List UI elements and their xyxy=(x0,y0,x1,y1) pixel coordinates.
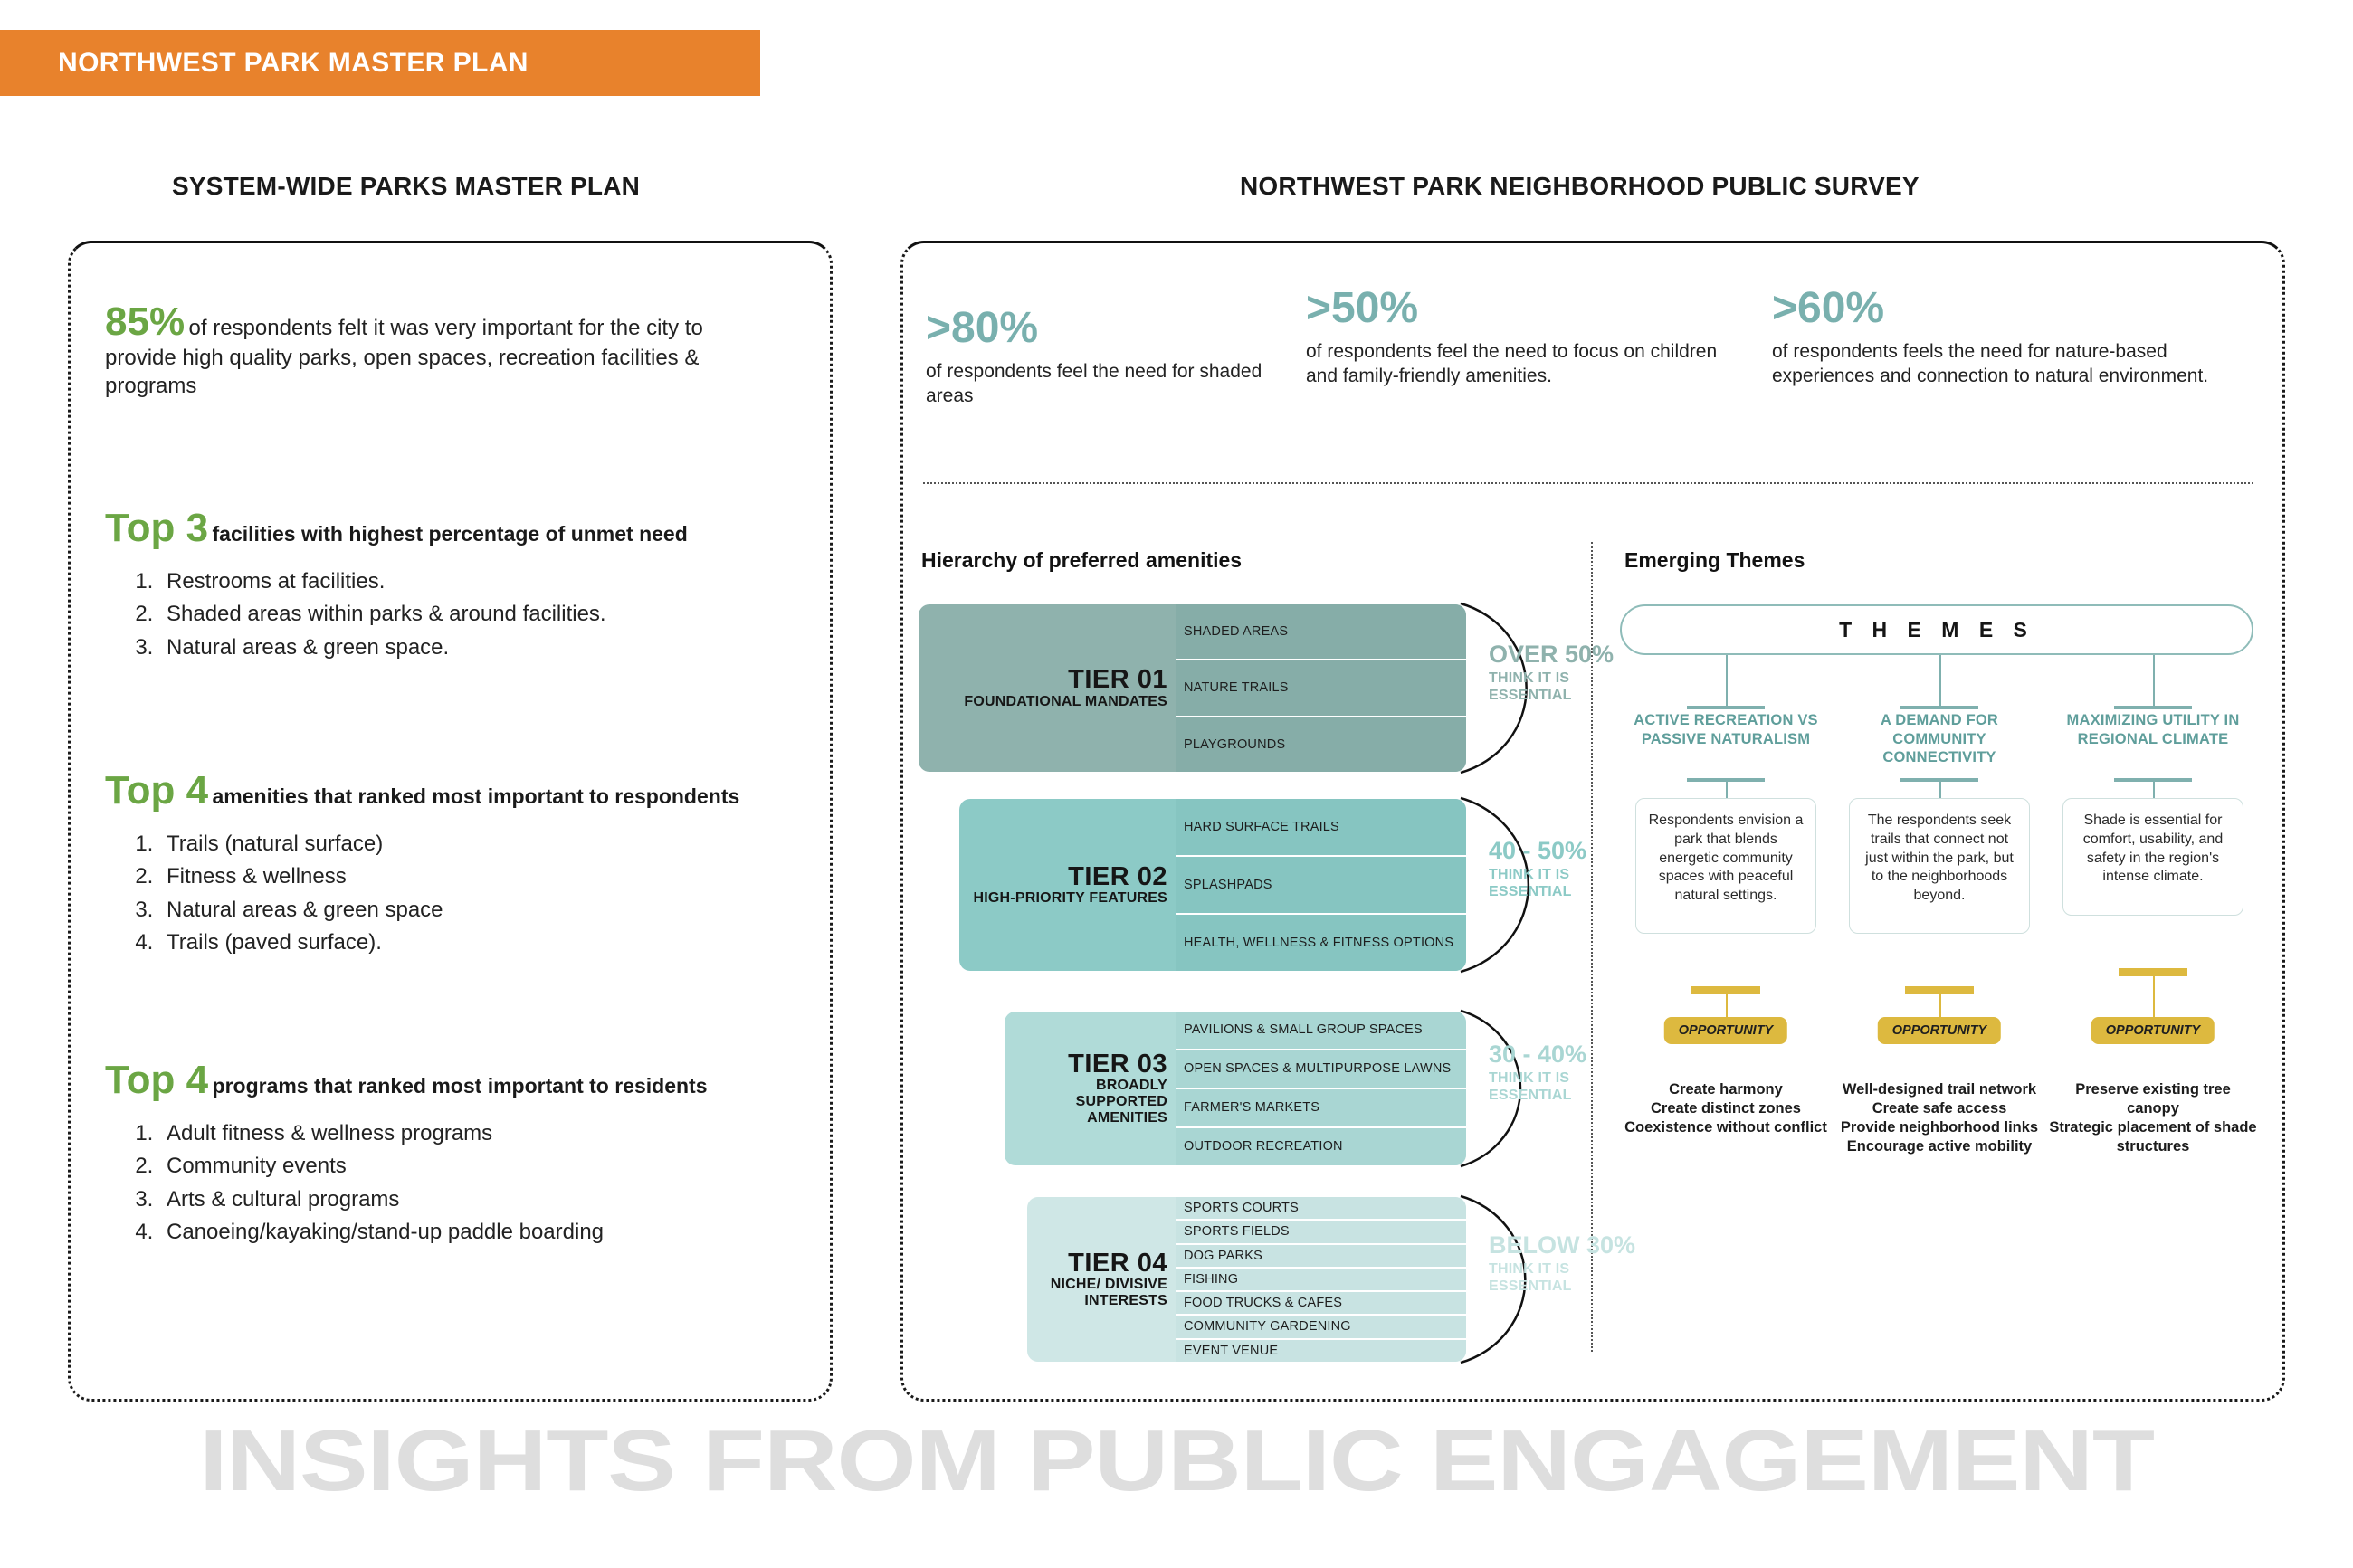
theme-tick xyxy=(1900,706,1978,709)
themes-section-label: Emerging Themes xyxy=(1624,548,1805,573)
tier-label: TIER 04NICHE/ DIVISIVE INTERESTS xyxy=(1027,1197,1176,1362)
survey-stat-nature-value: >60% xyxy=(1772,287,2261,330)
survey-stat-nature: >60% of respondents feels the need for n… xyxy=(1772,287,2261,389)
theme-description-card: Respondents envision a park that blends … xyxy=(1635,798,1816,934)
theme-name: A DEMAND FOR COMMUNITY CONNECTIVITY xyxy=(1835,711,2043,767)
tier-subtitle: FOUNDATIONAL MANDATES xyxy=(964,694,1167,710)
opportunity-connector-line xyxy=(1939,990,1941,1017)
opportunity-actions: Create harmony Create distinct zones Coe… xyxy=(1622,1080,1830,1137)
tier-amenity-item: SPLASHPADS xyxy=(1176,857,1466,915)
survey-stat-shade: >80% of respondents feel the need for sh… xyxy=(926,307,1279,409)
tier-number: TIER 02 xyxy=(1068,863,1167,890)
top3-list: Restrooms at facilities.Shaded areas wit… xyxy=(159,565,802,664)
survey-stat-shade-text: of respondents feel the need for shaded … xyxy=(926,359,1279,409)
tier-label: TIER 03BROADLY SUPPORTED AMENITIES xyxy=(1005,1012,1176,1165)
opportunity-connector-line xyxy=(1726,990,1728,1017)
amenity-hierarchy-diagram: TIER 01FOUNDATIONAL MANDATESSHADED AREAS… xyxy=(919,604,1570,1238)
stats-divider xyxy=(923,482,2253,484)
tier-percentage-caption: THINK IT IS ESSENTIAL xyxy=(1489,867,1656,901)
footer-watermark: INSIGHTS FROM PUBLIC ENGAGEMENT xyxy=(0,1411,2353,1511)
list-item: Natural areas & green space xyxy=(159,894,820,927)
list-item: Restrooms at facilities. xyxy=(159,565,802,598)
top3-caption: facilities with highest percentage of un… xyxy=(213,522,688,546)
theme-connector-line xyxy=(2153,655,2155,706)
top4-amenities-rank-label: Top 4 xyxy=(105,768,208,813)
tier-row: TIER 01FOUNDATIONAL MANDATESSHADED AREAS… xyxy=(919,604,1466,772)
tier-percentage: 40 - 50%THINK IT IS ESSENTIAL xyxy=(1489,838,1656,901)
tier-amenity-item: OUTDOOR RECREATION xyxy=(1176,1128,1466,1165)
tier-amenity-item: HEALTH, WELLNESS & FITNESS OPTIONS xyxy=(1176,915,1466,971)
tier-amenity-list: SPORTS COURTSSPORTS FIELDSDOG PARKSFISHI… xyxy=(1176,1197,1466,1362)
list-item: Arts & cultural programs xyxy=(159,1183,820,1216)
tier-row: TIER 04NICHE/ DIVISIVE INTERESTSSPORTS C… xyxy=(1027,1197,1466,1362)
top4-amenities-caption: amenities that ranked most important to … xyxy=(213,784,740,808)
tier-amenity-list: SHADED AREASNATURE TRAILSPLAYGROUNDS xyxy=(1176,604,1466,772)
themes-pill: T H E M E S xyxy=(1620,604,2253,655)
tier-amenity-item: PAVILIONS & SMALL GROUP SPACES xyxy=(1176,1012,1466,1050)
top4-programs-rank-label: Top 4 xyxy=(105,1058,208,1102)
infographic-page: NORTHWEST PARK MASTER PLAN SYSTEM-WIDE P… xyxy=(0,0,2353,1568)
tier-label: TIER 02HIGH-PRIORITY FEATURES xyxy=(959,799,1176,971)
survey-stat-shade-value: >80% xyxy=(926,307,1279,350)
tier-amenity-item: HARD SURFACE TRAILS xyxy=(1176,799,1466,857)
survey-stat-family-text: of respondents feel the need to focus on… xyxy=(1306,339,1749,389)
list-item: Fitness & wellness xyxy=(159,860,820,893)
opportunity-actions: Well-designed trail network Create safe … xyxy=(1835,1080,2043,1156)
tier-number: TIER 03 xyxy=(1068,1050,1167,1078)
tier-amenity-item: OPEN SPACES & MULTIPURPOSE LAWNS xyxy=(1176,1050,1466,1089)
list-item: Trails (natural surface) xyxy=(159,828,820,860)
tier-amenity-list: PAVILIONS & SMALL GROUP SPACESOPEN SPACE… xyxy=(1176,1012,1466,1165)
header-banner-title: NORTHWEST PARK MASTER PLAN xyxy=(0,48,529,79)
theme-connector-line xyxy=(1726,778,1728,798)
list-item: Natural areas & green space. xyxy=(159,632,802,664)
tier-box: TIER 03BROADLY SUPPORTED AMENITIESPAVILI… xyxy=(1005,1012,1466,1165)
tier-box: TIER 02HIGH-PRIORITY FEATURESHARD SURFAC… xyxy=(959,799,1466,971)
tier-percentage-caption: THINK IT IS ESSENTIAL xyxy=(1489,1261,1656,1296)
theme-description-card: The respondents seek trails that connect… xyxy=(1849,798,2030,934)
tier-box: TIER 01FOUNDATIONAL MANDATESSHADED AREAS… xyxy=(919,604,1466,772)
top4-programs-list: Adult fitness & wellness programsCommuni… xyxy=(159,1117,820,1250)
top4-amenities-list: Trails (natural surface)Fitness & wellne… xyxy=(159,828,820,960)
theme-connector-line xyxy=(2153,778,2155,798)
survey-stat-family-value: >50% xyxy=(1306,287,1749,330)
tier-amenity-item: SPORTS FIELDS xyxy=(1176,1221,1466,1244)
tier-amenity-item: NATURE TRAILS xyxy=(1176,660,1466,717)
theme-description-card: Shade is essential for comfort, usabilit… xyxy=(2062,798,2243,916)
opportunity-badge: OPPORTUNITY xyxy=(1878,1017,2001,1044)
tier-percentage-value: 40 - 50% xyxy=(1489,838,1656,863)
tier-percentage: BELOW 30%THINK IT IS ESSENTIAL xyxy=(1489,1232,1656,1296)
theme-connector-line xyxy=(1939,778,1941,798)
theme-name: ACTIVE RECREATION VS PASSIVE NATURALISM xyxy=(1622,711,1830,748)
left-headline-text: of respondents felt it was very importan… xyxy=(105,316,703,398)
tier-row: TIER 02HIGH-PRIORITY FEATURESHARD SURFAC… xyxy=(959,799,1466,971)
tier-amenity-item: EVENT VENUE xyxy=(1176,1340,1466,1362)
top3-facilities-block: Top 3 facilities with highest percentage… xyxy=(105,506,802,664)
opportunity-connector-line xyxy=(2153,972,2155,1017)
list-item: Shaded areas within parks & around facil… xyxy=(159,598,802,631)
left-headline-value: 85% xyxy=(105,299,185,344)
list-item: Community events xyxy=(159,1150,820,1183)
opportunity-badge: OPPORTUNITY xyxy=(2091,1017,2215,1044)
theme-connector-line xyxy=(1939,655,1941,706)
tier-percentage-value: 30 - 40% xyxy=(1489,1041,1656,1067)
survey-stat-nature-text: of respondents feels the need for nature… xyxy=(1772,339,2261,389)
tier-subtitle: BROADLY SUPPORTED AMENITIES xyxy=(1017,1078,1167,1126)
tier-amenity-item: FOOD TRUCKS & CAFES xyxy=(1176,1292,1466,1316)
theme-name: MAXIMIZING UTILITY IN REGIONAL CLIMATE xyxy=(2049,711,2257,748)
top4-amenities-block: Top 4 amenities that ranked most importa… xyxy=(105,768,820,960)
tier-amenity-item: DOG PARKS xyxy=(1176,1245,1466,1269)
survey-stat-family: >50% of respondents feel the need to foc… xyxy=(1306,287,1749,389)
theme-tick xyxy=(2114,706,2192,709)
list-item: Trails (paved surface). xyxy=(159,927,820,959)
tier-amenity-item: SPORTS COURTS xyxy=(1176,1197,1466,1221)
header-banner: NORTHWEST PARK MASTER PLAN xyxy=(0,30,760,96)
left-column-title: SYSTEM-WIDE PARKS MASTER PLAN xyxy=(172,172,640,201)
tier-label: TIER 01FOUNDATIONAL MANDATES xyxy=(919,604,1176,772)
system-wide-panel: 85% of respondents felt it was very impo… xyxy=(68,241,833,1402)
tier-subtitle: NICHE/ DIVISIVE INTERESTS xyxy=(1040,1277,1167,1309)
tier-subtitle: HIGH-PRIORITY FEATURES xyxy=(974,890,1168,907)
tier-percentage-caption: THINK IT IS ESSENTIAL xyxy=(1489,670,1656,705)
theme-tick xyxy=(1687,706,1765,709)
tier-amenity-item: FARMER'S MARKETS xyxy=(1176,1089,1466,1128)
list-item: Canoeing/kayaking/stand-up paddle boardi… xyxy=(159,1216,820,1249)
left-headline-stat: 85% of respondents felt it was very impo… xyxy=(105,299,779,400)
theme-connector-line xyxy=(1726,655,1728,706)
tier-box: TIER 04NICHE/ DIVISIVE INTERESTSSPORTS C… xyxy=(1027,1197,1466,1362)
tier-number: TIER 01 xyxy=(1068,666,1167,693)
themes-pill-label: T H E M E S xyxy=(1839,618,2034,642)
tier-amenity-item: PLAYGROUNDS xyxy=(1176,717,1466,772)
tier-row: TIER 03BROADLY SUPPORTED AMENITIESPAVILI… xyxy=(1005,1012,1466,1165)
tier-number: TIER 04 xyxy=(1068,1250,1167,1277)
right-column-title: NORTHWEST PARK NEIGHBORHOOD PUBLIC SURVE… xyxy=(1240,172,1920,201)
opportunity-actions: Preserve existing tree canopy Strategic … xyxy=(2049,1080,2257,1156)
hierarchy-section-label: Hierarchy of preferred amenities xyxy=(921,548,1242,573)
top3-rank-label: Top 3 xyxy=(105,506,208,550)
opportunity-badge: OPPORTUNITY xyxy=(1664,1017,1787,1044)
tier-percentage-value: BELOW 30% xyxy=(1489,1232,1656,1258)
top4-programs-caption: programs that ranked most important to r… xyxy=(213,1074,708,1098)
top4-programs-block: Top 4 programs that ranked most importan… xyxy=(105,1058,820,1250)
tier-amenity-item: SHADED AREAS xyxy=(1176,604,1466,660)
list-item: Adult fitness & wellness programs xyxy=(159,1117,820,1150)
tier-amenity-list: HARD SURFACE TRAILSSPLASHPADSHEALTH, WEL… xyxy=(1176,799,1466,971)
tier-amenity-item: COMMUNITY GARDENING xyxy=(1176,1316,1466,1339)
tier-amenity-item: FISHING xyxy=(1176,1269,1466,1292)
